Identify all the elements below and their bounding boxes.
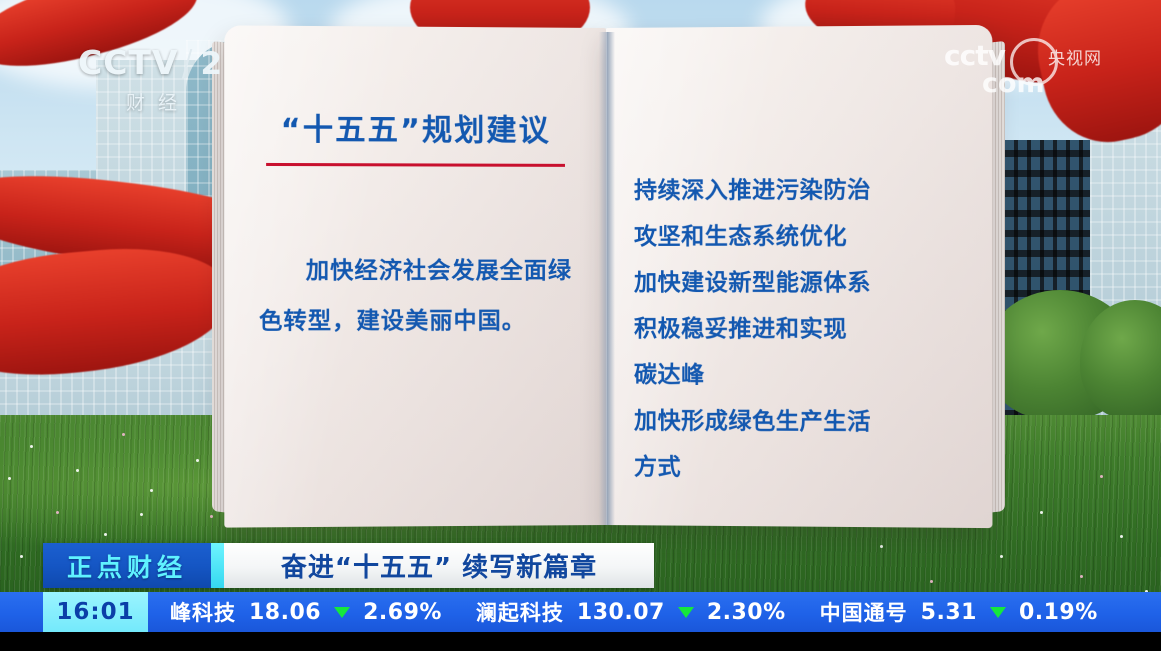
lower-third-banner: 正点财经 奋进“十五五” 续写新篇章 [43, 543, 654, 588]
right-page-line: 持续深入推进污染防治 [634, 167, 968, 214]
logo-slash-icon [181, 49, 192, 79]
right-page-line: 攻坚和生态系统优化 [634, 213, 968, 260]
program-name-block: 正点财经 [43, 543, 211, 588]
cctv-com-watermark: cctv com 央视网 [944, 42, 1124, 104]
quote-price: 130.07 [577, 600, 665, 625]
stock-ticker: 16:01 峰科技 18.06 2.69% 澜起科技 130.07 2.30% … [0, 592, 1161, 632]
quote-price: 5.31 [921, 600, 977, 625]
watermark-cn: 央视网 [1048, 44, 1102, 69]
right-page-line: 加快建设新型能源体系 [634, 260, 968, 307]
right-page-line: 碳达峰 [634, 352, 968, 399]
arrow-down-icon [678, 607, 694, 618]
clock-time: 16:01 [56, 599, 134, 625]
page-title-block: “十五五”规划建议 [245, 104, 586, 167]
page-title: “十五五”规划建议 [245, 104, 586, 150]
clock-block: 16:01 [43, 592, 148, 632]
right-page-line: 方式 [634, 444, 968, 492]
quote-change: 2.69% [363, 600, 442, 625]
book-gutter [599, 32, 615, 525]
quote-item: 澜起科技 130.07 2.30% [476, 597, 786, 627]
quote-change: 0.19% [1019, 600, 1098, 625]
quote-list: 峰科技 18.06 2.69% 澜起科技 130.07 2.30% 中国通号 5… [148, 592, 1161, 632]
right-page-line: 积极稳妥推进和实现 [634, 306, 968, 353]
headline-text: 奋进“十五五” 续写新篇章 [281, 547, 597, 584]
channel-logo: CCTV2 财经 [78, 46, 238, 112]
right-page-line: 加快形成绿色生产生活 [634, 398, 968, 446]
quote-price: 18.06 [249, 600, 321, 625]
quote-name: 澜起科技 [476, 597, 564, 627]
broadcast-screen: “十五五”规划建议 加快经济社会发展全面绿色转型，建设美丽中国。 持续深入推进污… [0, 0, 1161, 651]
book-page-right: 持续深入推进污染防治 攻坚和生态系统优化 加快建设新型能源体系 积极稳妥推进和实… [606, 25, 992, 528]
right-page-body: 持续深入推进污染防治 攻坚和生态系统优化 加快建设新型能源体系 积极稳妥推进和实… [634, 167, 968, 493]
open-book: “十五五”规划建议 加快经济社会发展全面绿色转型，建设美丽中国。 持续深入推进污… [228, 28, 988, 525]
logo-cctv-text: CCTV [78, 43, 179, 82]
arrow-down-icon [990, 607, 1006, 618]
quote-name: 峰科技 [170, 597, 236, 627]
quote-item: 中国通号 5.31 0.19% [820, 597, 1098, 627]
book-page-left: “十五五”规划建议 加快经济社会发展全面绿色转型，建设美丽中国。 [224, 25, 606, 527]
quote-change: 2.30% [707, 600, 786, 625]
headline-block: 奋进“十五五” 续写新篇章 [224, 543, 654, 588]
logo-subtitle: 财经 [78, 88, 238, 115]
arrow-down-icon [334, 607, 350, 618]
banner-divider [211, 543, 224, 588]
logo-channel-number: 2 [201, 46, 223, 82]
left-page-body: 加快经济社会发展全面绿色转型，建设美丽中国。 [259, 246, 580, 347]
quote-name: 中国通号 [820, 597, 908, 627]
quote-item: 峰科技 18.06 2.69% [170, 597, 442, 627]
program-name: 正点财经 [67, 548, 187, 584]
screen-bottom-bar [0, 632, 1161, 651]
